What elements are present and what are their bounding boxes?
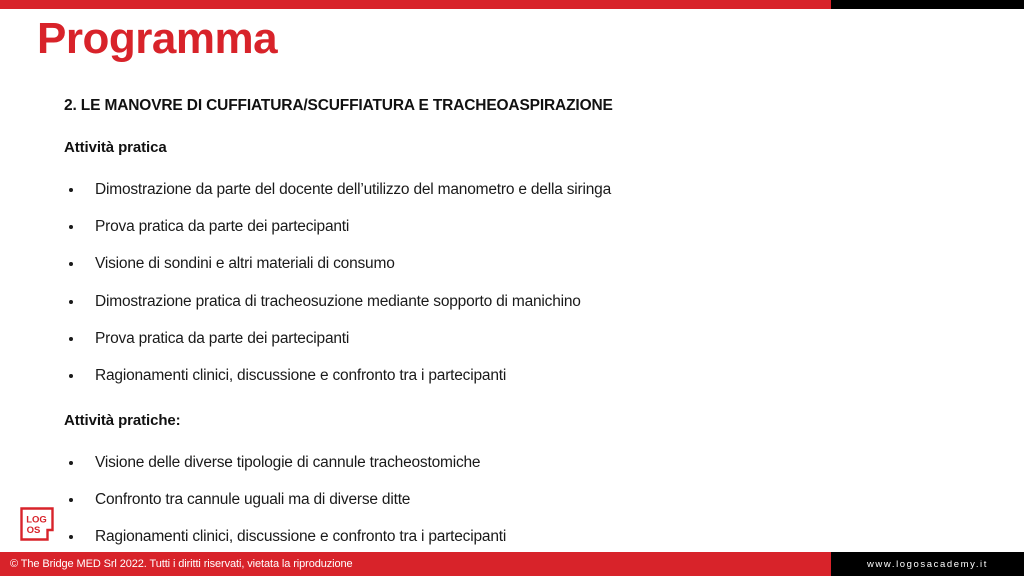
list-item-label: Prova pratica da parte dei partecipanti (95, 330, 349, 347)
bullet-dot-icon (69, 262, 73, 266)
footer-bar: © The Bridge MED Srl 2022. Tutti i dirit… (0, 552, 1024, 576)
list-item-label: Ragionamenti clinici, discussione e conf… (95, 367, 506, 384)
bullet-dot-icon (69, 300, 73, 304)
bullet-dot-icon (69, 225, 73, 229)
list-item-label: Dimostrazione da parte del docente dell’… (95, 181, 611, 198)
list-item-label: Prova pratica da parte dei partecipanti (95, 218, 349, 235)
top-bar-red-segment (0, 0, 831, 9)
list-item-label: Confronto tra cannule uguali ma di diver… (95, 491, 410, 508)
bullet-dot-icon (69, 461, 73, 465)
bullet-dot-icon (69, 188, 73, 192)
bullet-list-1: Dimostrazione da parte del docente dell’… (64, 180, 964, 386)
list-item: Ragionamenti clinici, discussione e conf… (64, 366, 964, 386)
list-item: Visione di sondini e altri materiali di … (64, 254, 964, 274)
list-item-label: Ragionamenti clinici, discussione e conf… (95, 528, 506, 545)
page-title: Programma (37, 14, 277, 63)
list-item: Confronto tra cannule uguali ma di diver… (64, 490, 964, 510)
footer-copyright-text: © The Bridge MED Srl 2022. Tutti i dirit… (0, 558, 353, 570)
slide-content: 2. LE MANOVRE DI CUFFIATURA/SCUFFIATURA … (64, 96, 964, 547)
list-item: Prova pratica da parte dei partecipanti (64, 217, 964, 237)
list-item: Visione delle diverse tipologie di cannu… (64, 453, 964, 473)
bullet-list-2: Visione delle diverse tipologie di cannu… (64, 453, 964, 547)
bullet-dot-icon (69, 535, 73, 539)
bullet-dot-icon (69, 498, 73, 502)
logos-logo-icon: LOG OS (19, 506, 55, 542)
list-item: Dimostrazione da parte del docente dell’… (64, 180, 964, 200)
list-item: Dimostrazione pratica di tracheosuzione … (64, 292, 964, 312)
top-bar-black-segment (831, 0, 1024, 9)
footer-copyright-area: © The Bridge MED Srl 2022. Tutti i dirit… (0, 552, 831, 576)
list-item: Ragionamenti clinici, discussione e conf… (64, 527, 964, 547)
slide: Programma 2. LE MANOVRE DI CUFFIATURA/SC… (0, 0, 1024, 576)
section-heading: 2. LE MANOVRE DI CUFFIATURA/SCUFFIATURA … (64, 96, 964, 115)
list-item-label: Visione di sondini e altri materiali di … (95, 255, 395, 272)
list-item-label: Visione delle diverse tipologie di cannu… (95, 454, 480, 471)
bullet-dot-icon (69, 337, 73, 341)
footer-website-text: www.logosacademy.it (867, 559, 988, 570)
footer-website-area: www.logosacademy.it (831, 552, 1024, 576)
group-heading-2: Attività pratiche: (64, 412, 964, 431)
bullet-dot-icon (69, 374, 73, 378)
logo-line-2: OS (27, 525, 41, 536)
top-bar (0, 0, 1024, 9)
list-item-label: Dimostrazione pratica di tracheosuzione … (95, 293, 581, 310)
list-item: Prova pratica da parte dei partecipanti (64, 329, 964, 349)
logo-line-1: LOG (26, 515, 47, 526)
group-heading-1: Attività pratica (64, 139, 964, 158)
